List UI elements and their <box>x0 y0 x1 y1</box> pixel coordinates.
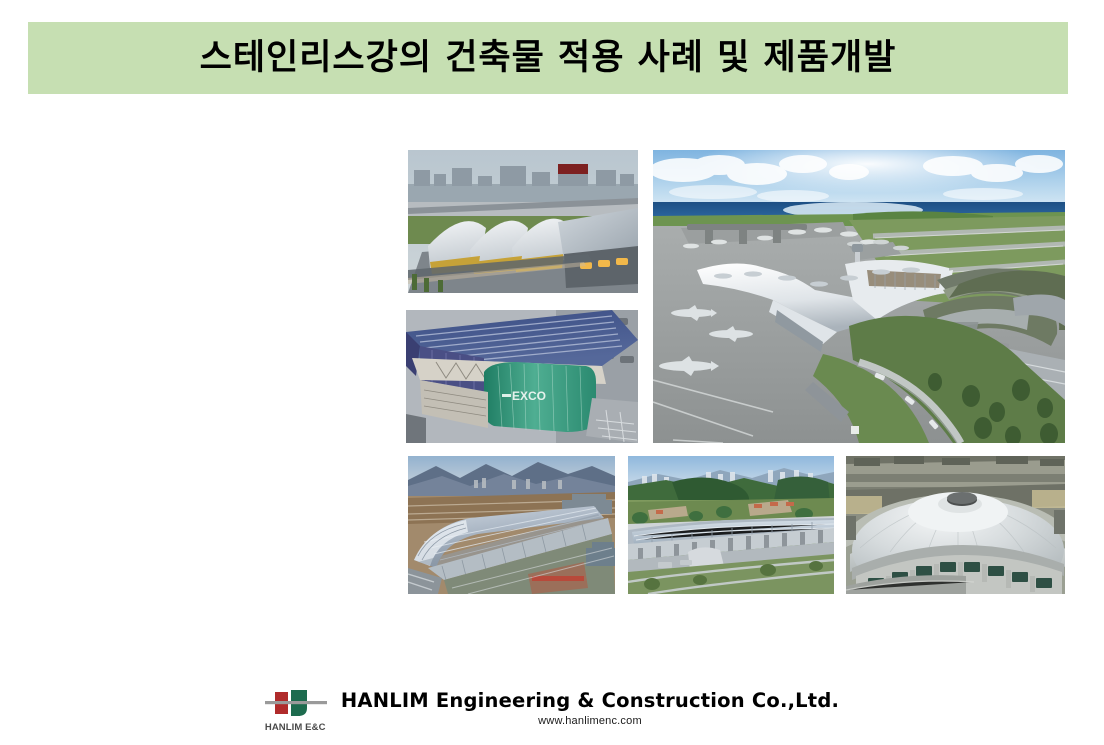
photo-bexco-convention-center <box>408 150 638 293</box>
photo-rail-depot-barrel-roof <box>408 456 615 594</box>
footer-text-block: HANLIM Engineering & Construction Co.,Lt… <box>341 688 839 727</box>
exco-illustration: EXCO <box>406 310 638 443</box>
svg-text:EXCO: EXCO <box>512 389 546 403</box>
rail-depot-illustration <box>408 456 615 594</box>
slide-title-band: 스테인리스강의 건축물 적용 사례 및 제품개발 <box>28 22 1068 94</box>
photo-exco-convention-center: EXCO <box>406 310 638 443</box>
logo-caption: HANLIM E&C <box>265 722 337 733</box>
photo-airport-terminal-rendering <box>653 150 1065 443</box>
page-title: 스테인리스강의 건축물 적용 사례 및 제품개발 <box>200 41 897 76</box>
bexco-illustration <box>408 150 638 293</box>
photo-domed-arena <box>846 456 1065 594</box>
footer-inner: HANLIM E&C HANLIM Engineering & Construc… <box>265 684 839 740</box>
hanlim-logo-mark <box>265 688 331 722</box>
photo-elevated-rail-station <box>628 456 834 594</box>
elevated-station-illustration <box>628 456 834 594</box>
company-name: HANLIM Engineering & Construction Co.,Lt… <box>341 690 839 712</box>
slide-footer: HANLIM E&C HANLIM Engineering & Construc… <box>0 684 1104 745</box>
domed-arena-illustration <box>846 456 1065 594</box>
company-website[interactable]: www.hanlimenc.com <box>538 715 642 727</box>
hanlim-logo: HANLIM E&C <box>265 688 331 740</box>
airport-illustration <box>653 150 1065 443</box>
